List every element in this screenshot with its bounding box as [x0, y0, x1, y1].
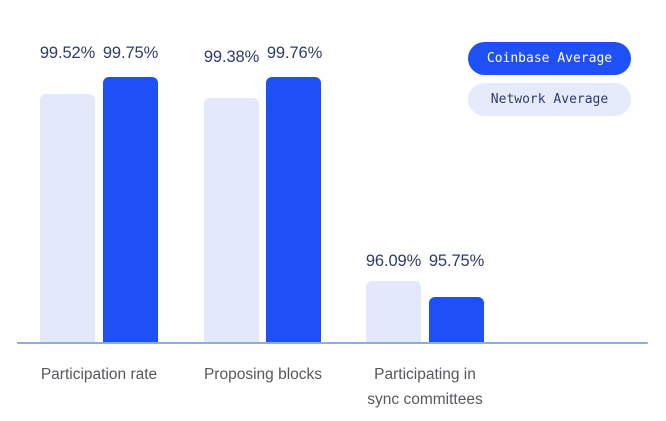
category-label-proposing-blocks: Proposing blocks	[183, 362, 343, 387]
bar-coinbase-sync-committees[interactable]	[429, 297, 484, 344]
legend-label-coinbase-average: Coinbase Average	[487, 51, 612, 66]
bar-network-sync-committees[interactable]	[366, 281, 421, 344]
bar-value-label-coinbase-proposing-blocks: 99.76%	[252, 44, 337, 63]
bar-value-label-coinbase-participation-rate: 99.75%	[88, 44, 173, 63]
axis-baseline	[17, 342, 648, 344]
bar-network-proposing-blocks[interactable]	[204, 98, 259, 344]
bar-chart: 99.52% 99.75% 99.38% 99.76% 96.09% 95.75…	[0, 0, 666, 421]
legend-label-network-average: Network Average	[491, 92, 608, 107]
chart-legend: Coinbase Average Network Average	[468, 42, 631, 124]
category-label-participation-rate: Participation rate	[19, 362, 179, 387]
legend-item-coinbase-average[interactable]: Coinbase Average	[468, 42, 631, 75]
bar-value-label-coinbase-sync-committees: 95.75%	[414, 252, 499, 271]
bar-network-participation-rate[interactable]	[40, 94, 95, 344]
category-label-sync-committees: Participating in sync committees	[345, 362, 505, 412]
bar-coinbase-proposing-blocks[interactable]	[266, 77, 321, 344]
bar-coinbase-participation-rate[interactable]	[103, 77, 158, 344]
legend-item-network-average[interactable]: Network Average	[468, 83, 631, 116]
